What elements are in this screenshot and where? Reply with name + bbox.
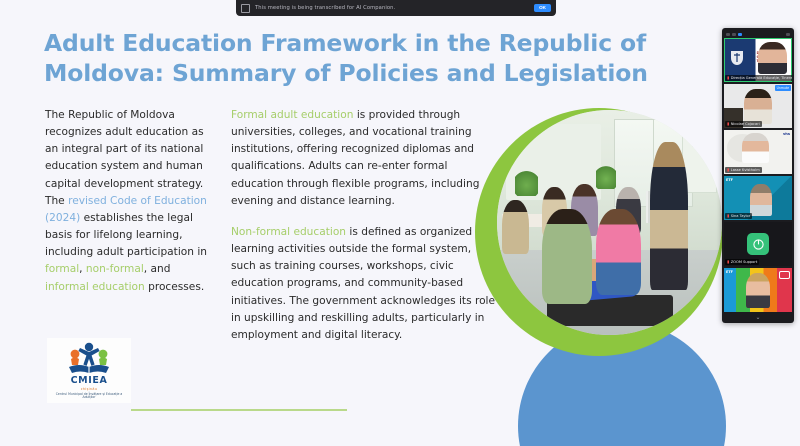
highlight-non-formal: non-formal	[86, 263, 144, 275]
training-photo	[497, 110, 722, 335]
mic-off-icon: ▮	[727, 214, 729, 218]
participant-name: ZOOM Support	[731, 260, 758, 264]
participant-nametag: ▮ Direcția Generală Educație, Tineret și…	[725, 75, 792, 81]
participant-name: Lasse Kvistholm	[731, 168, 760, 172]
layout-icon-1[interactable]	[726, 33, 730, 36]
participant-tile[interactable]: vhs ▮ Lasse Kvistholm	[724, 130, 792, 174]
participant-video	[758, 42, 787, 75]
photo-seated-person-4	[502, 200, 529, 254]
highlight-formal-adult-education: Formal adult education	[231, 109, 353, 121]
transcript-icon	[241, 4, 250, 13]
highlight-non-formal-education: Non-formal education	[231, 226, 346, 238]
photo-plant-mid	[596, 164, 616, 189]
cmiea-logo-mark	[50, 342, 128, 375]
photo-scene	[497, 110, 722, 335]
mic-off-icon: ▮	[727, 260, 729, 264]
slide-title: Adult Education Framework in the Republi…	[44, 28, 744, 88]
cmiea-logo: CMIEA chișinău Centrul Municipal de Învă…	[47, 338, 131, 403]
participant-nametag: ▮ Nicolae Cojocari	[725, 121, 762, 127]
zoom-strip-toolbar[interactable]	[724, 30, 792, 38]
zoom-support-avatar	[747, 233, 769, 255]
cmiea-acronym: CMIEA	[50, 376, 128, 386]
mic-off-icon: ▮	[727, 168, 729, 172]
participant-video	[742, 133, 769, 164]
participant-tile[interactable]: ▮ ZOOM Support	[724, 222, 792, 266]
presentation-slide: Adult Education Framework in the Republi…	[0, 0, 800, 446]
photo-learner-pink	[596, 209, 641, 295]
zoom-participant-strip[interactable]: DIRECȚIAGENERALĂTINERET ▮ Direcția Gener…	[722, 28, 794, 323]
layout-icon-active[interactable]	[738, 33, 742, 36]
paragraph-formal-body: is provided through universities, colleg…	[231, 109, 479, 207]
chevron-down-icon[interactable]: ⌄	[724, 314, 792, 321]
paragraph-non-formal-body: is defined as organized learning activit…	[231, 226, 495, 341]
participant-tile[interactable]: Unmute ▮ Nicolae Cojocari	[724, 84, 792, 128]
ok-button[interactable]: OK	[534, 4, 551, 13]
highlight-formal: formal	[45, 263, 79, 275]
power-icon	[752, 238, 765, 251]
photo-kneeling-trainer	[542, 209, 592, 304]
paragraph-formal-education: Formal adult education is provided throu…	[231, 107, 497, 210]
etf-logo-icon: ETF	[726, 270, 733, 274]
participant-video	[750, 184, 772, 216]
participant-name: Direcția Generală Educație, Tineret și S…	[731, 76, 792, 80]
participant-tile[interactable]: ETF ▮ Sina Taylor	[724, 176, 792, 220]
participant-nametag: ▮ ZOOM Support	[725, 259, 759, 265]
etf-logo-icon: ETF	[726, 178, 733, 182]
left-text-part-1: The Republic of Moldova recognizes adult…	[45, 109, 204, 207]
unmute-badge[interactable]: Unmute	[775, 85, 791, 91]
left-text-column: The Republic of Moldova recognizes adult…	[45, 107, 210, 296]
transcription-message: This meeting is being transcribed for AI…	[255, 5, 529, 11]
vhs-logo-icon: vhs	[783, 132, 790, 136]
left-text-sep-2: , and	[144, 263, 171, 275]
highlight-informal-education: informal education	[45, 281, 145, 293]
mic-off-icon: ▮	[727, 76, 729, 80]
camera-icon	[779, 271, 790, 279]
zoom-transcription-banner: This meeting is being transcribed for AI…	[236, 0, 556, 16]
paragraph-non-formal-education: Non-formal education is defined as organ…	[231, 224, 497, 344]
ministry-crest-icon	[729, 47, 745, 65]
green-divider	[131, 409, 347, 411]
participant-tile[interactable]: ETF	[724, 268, 792, 312]
photo-plant-left	[515, 169, 538, 196]
participant-nametag: ▮ Sina Taylor	[725, 213, 752, 219]
participant-name: Sina Taylor	[731, 214, 751, 218]
fullscreen-icon[interactable]	[786, 33, 790, 36]
participant-video	[746, 273, 770, 307]
mic-off-icon: ▮	[727, 122, 729, 126]
photo-standing-instructor	[650, 142, 688, 291]
participant-nametag: ▮ Lasse Kvistholm	[725, 167, 762, 173]
book-and-figures-icon	[66, 342, 112, 375]
right-text-column: Formal adult education is provided throu…	[231, 107, 497, 344]
participant-name: Nicolae Cojocari	[731, 122, 760, 126]
left-text-part-3: processes.	[145, 281, 204, 293]
cmiea-full-name: Centrul Municipal de Învățare și Educați…	[50, 393, 128, 401]
participant-video	[744, 89, 771, 123]
cmiea-city: chișinău	[50, 387, 128, 391]
participant-tile[interactable]: DIRECȚIAGENERALĂTINERET ▮ Direcția Gener…	[724, 38, 792, 82]
layout-icon-2[interactable]	[732, 33, 736, 36]
left-text-sep-1: ,	[79, 263, 86, 275]
